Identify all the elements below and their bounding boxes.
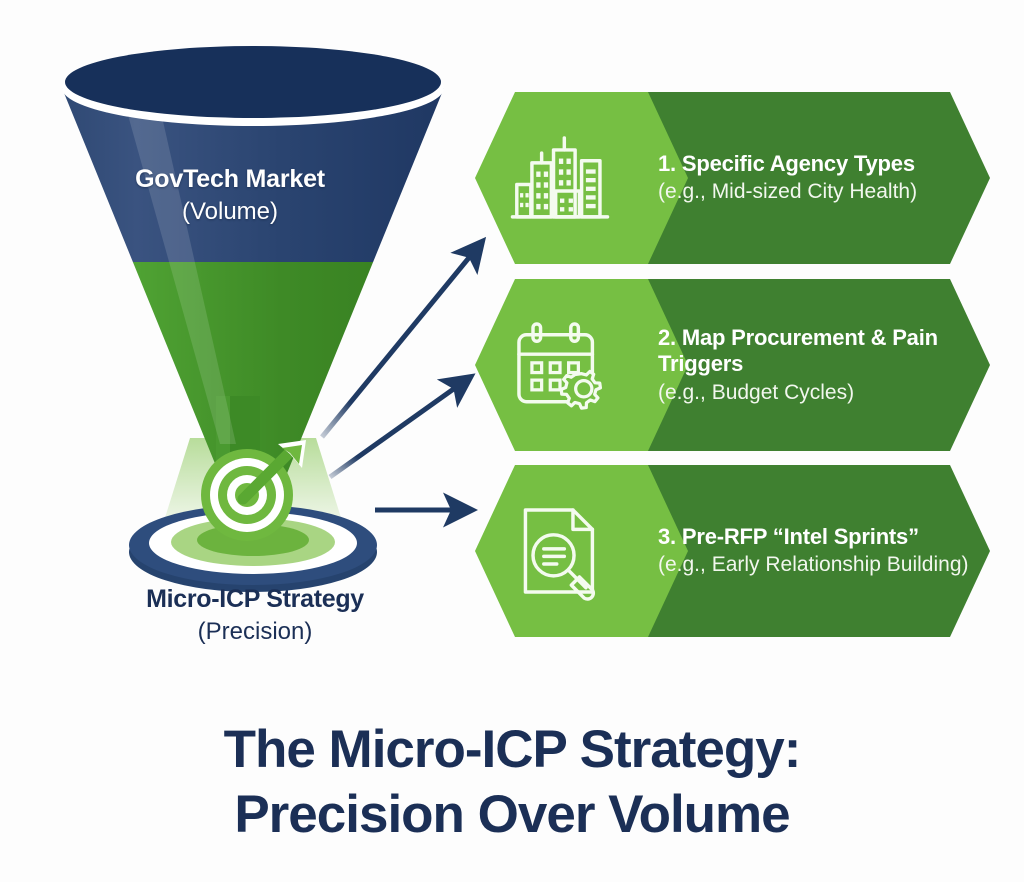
banner-1-subtitle: (e.g., Mid-sized City Health) [658, 179, 976, 205]
funnel-shape [40, 40, 480, 660]
step-banner-2[interactable]: 2. Map Procurement & Pain Triggers (e.g.… [470, 277, 992, 453]
page-title: The Micro-ICP Strategy: Precision Over V… [0, 718, 1024, 847]
funnel-caption-main: Micro-ICP Strategy [40, 585, 470, 614]
step-banner-3[interactable]: 3. Pre-RFP “Intel Sprints” (e.g., Early … [470, 463, 992, 639]
infographic-canvas: GovTech Market (Volume) Micro-ICP Strate… [0, 0, 1024, 882]
calendar-gear-icon [506, 311, 614, 419]
funnel-opening [65, 46, 441, 118]
banner-2-subtitle: (e.g., Budget Cycles) [658, 380, 976, 406]
step-banner-1[interactable]: 1. Specific Agency Types (e.g., Mid-size… [470, 90, 992, 266]
city-buildings-icon [506, 124, 614, 232]
funnel-graphic: GovTech Market (Volume) Micro-ICP Strate… [40, 40, 460, 660]
banner-2-text: 2. Map Procurement & Pain Triggers (e.g.… [658, 277, 976, 453]
banner-2-title: 2. Map Procurement & Pain Triggers [658, 325, 976, 378]
document-magnifier-icon [506, 497, 614, 605]
banner-3-text: 3. Pre-RFP “Intel Sprints” (e.g., Early … [658, 463, 976, 639]
funnel-caption-sub: (Precision) [40, 618, 470, 646]
page-title-line-1: The Micro-ICP Strategy: [0, 718, 1024, 783]
banner-1-text: 1. Specific Agency Types (e.g., Mid-size… [658, 90, 976, 266]
banner-3-title: 3. Pre-RFP “Intel Sprints” [658, 524, 976, 550]
banner-3-subtitle: (e.g., Early Relationship Building) [658, 552, 976, 578]
gear-sub-icon [561, 371, 600, 408]
page-title-line-2: Precision Over Volume [0, 783, 1024, 848]
funnel-caption: Micro-ICP Strategy (Precision) [40, 585, 470, 646]
banner-1-title: 1. Specific Agency Types [658, 151, 976, 177]
